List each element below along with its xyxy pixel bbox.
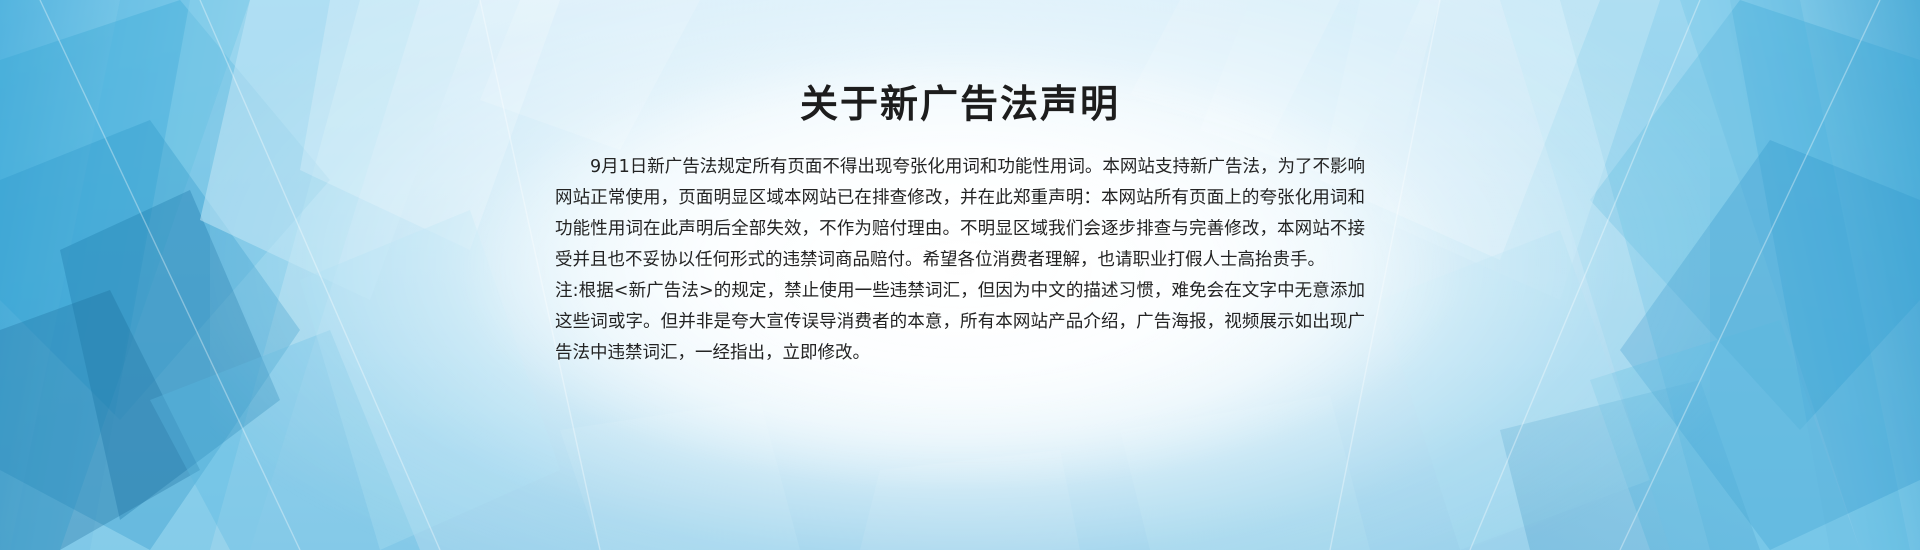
statement-content: 关于新广告法声明 9月1日新广告法规定所有页面不得出现夸张化用词和功能性用词。本…: [0, 0, 1920, 550]
statement-body: 9月1日新广告法规定所有页面不得出现夸张化用词和功能性用词。本网站支持新广告法，…: [555, 152, 1365, 369]
banner-stage: 关于新广告法声明 9月1日新广告法规定所有页面不得出现夸张化用词和功能性用词。本…: [0, 0, 1920, 550]
statement-paragraph-note: 注:根据<新广告法>的规定，禁止使用一些违禁词汇，但因为中文的描述习惯，难免会在…: [555, 276, 1365, 369]
page-title: 关于新广告法声明: [800, 82, 1120, 128]
statement-paragraph-main: 9月1日新广告法规定所有页面不得出现夸张化用词和功能性用词。本网站支持新广告法，…: [555, 152, 1365, 276]
